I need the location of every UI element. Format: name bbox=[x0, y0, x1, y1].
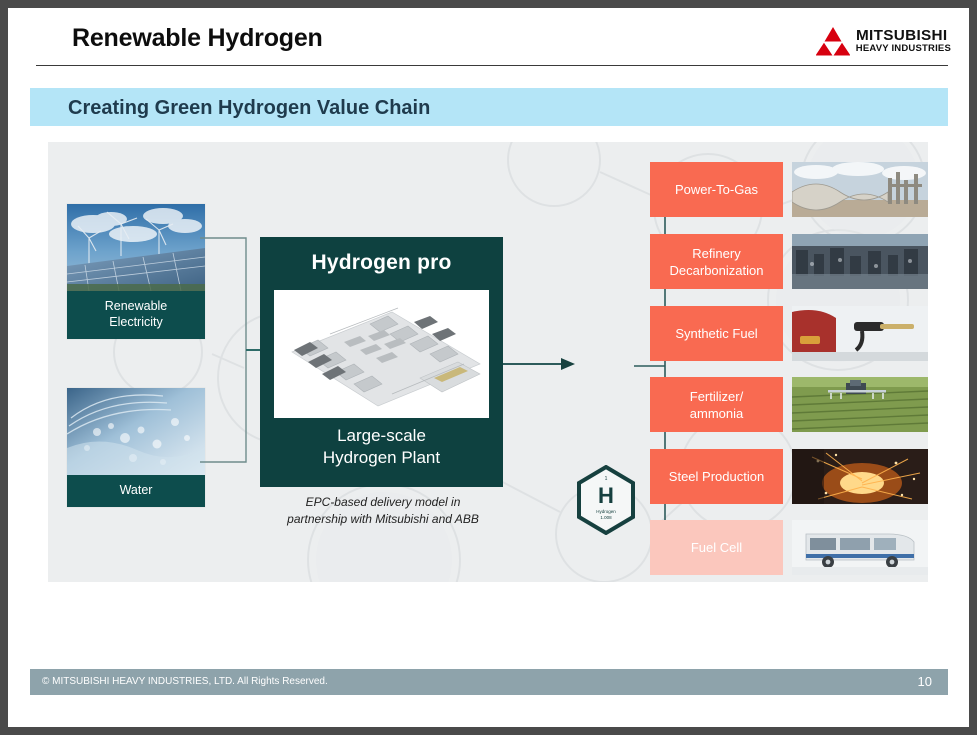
footer-copyright: © MITSUBISHI HEAVY INDUSTRIES, LTD. All … bbox=[42, 676, 328, 687]
slide-footer: © MITSUBISHI HEAVY INDUSTRIES, LTD. All … bbox=[30, 669, 948, 695]
crop-field-sprayer-photo bbox=[792, 377, 928, 432]
application-label-synthetic-fuel: Synthetic Fuel bbox=[671, 325, 761, 342]
app-label-line2: Decarbonization bbox=[670, 263, 764, 278]
app-label-line1: Fertilizer/ bbox=[690, 389, 743, 404]
hydrogen-plant-caption: Large-scale Hydrogen Plant bbox=[260, 425, 503, 469]
application-row-fertilizer-ammonia[interactable]: Fertilizer/ ammonia bbox=[650, 377, 928, 432]
application-row-fuel-cell[interactable]: Fuel Cell bbox=[650, 520, 928, 575]
source-card-renewable-electricity[interactable]: Renewable Electricity bbox=[67, 204, 205, 339]
application-box-steel-production[interactable]: Steel Production bbox=[650, 449, 783, 504]
application-box-power-to-gas[interactable]: Power-To-Gas bbox=[650, 162, 783, 217]
application-box-fertilizer-ammonia[interactable]: Fertilizer/ ammonia bbox=[650, 377, 783, 432]
mitsubishi-logo: MITSUBISHI HEAVY INDUSTRIES bbox=[816, 26, 951, 56]
app-label-line1: Refinery bbox=[692, 246, 740, 261]
hydrogen-pro-plant-panel[interactable]: Hydrogen pro bbox=[260, 237, 503, 487]
hydrogen-symbol: H bbox=[575, 485, 637, 507]
slide: Renewable Hydrogen MITSUBISHI HEAVY INDU… bbox=[8, 8, 969, 727]
slide-header: Renewable Hydrogen MITSUBISHI HEAVY INDU… bbox=[8, 8, 969, 70]
logo-text: MITSUBISHI HEAVY INDUSTRIES bbox=[856, 28, 951, 54]
gas-pipeline-photo bbox=[792, 162, 928, 217]
application-label-power-to-gas: Power-To-Gas bbox=[671, 181, 762, 198]
hydrogen-atomic-mass: 1.008 bbox=[575, 515, 637, 521]
app-label-line1: Fuel Cell bbox=[691, 540, 742, 555]
header-divider bbox=[36, 65, 948, 66]
application-box-fuel-cell[interactable]: Fuel Cell bbox=[650, 520, 783, 575]
application-label-fertilizer-ammonia: Fertilizer/ ammonia bbox=[686, 388, 747, 422]
source-label-line1: Water bbox=[120, 483, 153, 497]
refinery-aerial-photo bbox=[792, 234, 928, 289]
application-row-steel-production[interactable]: Steel Production bbox=[650, 449, 928, 504]
application-row-synthetic-fuel[interactable]: Synthetic Fuel bbox=[650, 306, 928, 361]
source-label-renewable-electricity: Renewable Electricity bbox=[67, 291, 205, 339]
application-row-refinery-decarbonization[interactable]: Refinery Decarbonization bbox=[650, 234, 928, 289]
application-label-steel-production: Steel Production bbox=[665, 468, 768, 485]
hydrogen-pro-brand: Hydrogen pro bbox=[260, 251, 503, 275]
source-label-line1: Renewable bbox=[105, 299, 168, 313]
molten-steel-sparks-photo bbox=[792, 449, 928, 504]
subtitle-band: Creating Green Hydrogen Value Chain bbox=[30, 88, 948, 126]
epc-delivery-note: EPC-based delivery model in partnership … bbox=[248, 494, 518, 528]
epc-note-line1: EPC-based delivery model in bbox=[306, 495, 461, 509]
plant-caption-line1: Large-scale bbox=[337, 426, 426, 445]
car-refueling-nozzle-photo bbox=[792, 306, 928, 361]
subtitle-text: Creating Green Hydrogen Value Chain bbox=[68, 97, 430, 120]
arrow-head bbox=[561, 358, 575, 370]
page-title: Renewable Hydrogen bbox=[72, 24, 323, 53]
application-row-power-to-gas[interactable]: Power-To-Gas bbox=[650, 162, 928, 217]
app-label-line1: Power-To-Gas bbox=[675, 182, 758, 197]
application-box-refinery-decarbonization[interactable]: Refinery Decarbonization bbox=[650, 234, 783, 289]
app-label-line1: Synthetic Fuel bbox=[675, 326, 757, 341]
application-label-refinery-decarbonization: Refinery Decarbonization bbox=[666, 245, 768, 279]
hydrogen-plant-3d-rendering bbox=[274, 290, 489, 418]
application-box-synthetic-fuel[interactable]: Synthetic Fuel bbox=[650, 306, 783, 361]
app-label-line1: Steel Production bbox=[669, 469, 764, 484]
source-card-water[interactable]: Water bbox=[67, 388, 205, 507]
epc-note-line2: partnership with Mitsubishi and ABB bbox=[287, 512, 479, 526]
source-label-line2: Electricity bbox=[109, 315, 162, 329]
logo-line-heavy-industries: HEAVY INDUSTRIES bbox=[856, 44, 951, 54]
water-splash-photo bbox=[67, 388, 205, 475]
footer-page-number: 10 bbox=[918, 674, 932, 689]
source-label-water: Water bbox=[67, 475, 205, 507]
app-label-line2: ammonia bbox=[690, 406, 743, 421]
three-diamonds-icon bbox=[816, 26, 850, 56]
logo-line-mitsubishi: MITSUBISHI bbox=[856, 28, 953, 43]
hydrogen-atomic-number: 1 bbox=[575, 476, 637, 482]
application-label-fuel-cell: Fuel Cell bbox=[687, 539, 746, 556]
fuel-cell-bus-photo bbox=[792, 520, 928, 575]
value-chain-diagram: Renewable Electricity bbox=[48, 142, 928, 582]
solar-panels-wind-turbines-photo bbox=[67, 204, 205, 291]
plant-caption-line2: Hydrogen Plant bbox=[323, 448, 440, 467]
hydrogen-element-node[interactable]: 1 H Hydrogen 1.008 bbox=[575, 465, 637, 535]
plant-to-hydrogen-connector bbox=[503, 352, 579, 376]
